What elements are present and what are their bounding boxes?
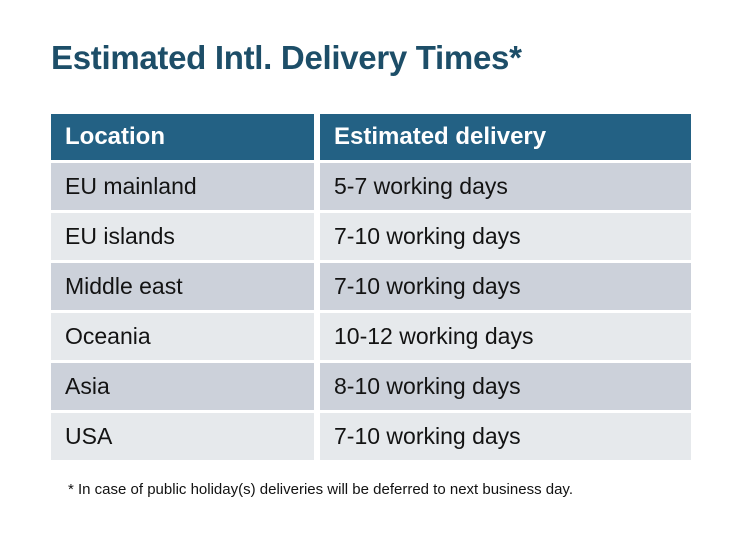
cell-location: Oceania xyxy=(51,313,314,360)
cell-estimated-delivery: 8-10 working days xyxy=(320,363,691,410)
cell-location: EU mainland xyxy=(51,163,314,210)
table-row: EU mainland 5-7 working days xyxy=(51,163,691,210)
table-row: Middle east 7-10 working days xyxy=(51,263,691,310)
table-header-row: Location Estimated delivery xyxy=(51,114,691,160)
delivery-times-page: Estimated Intl. Delivery Times* Location… xyxy=(0,0,745,536)
table-row: Oceania 10-12 working days xyxy=(51,313,691,360)
cell-estimated-delivery: 7-10 working days xyxy=(320,263,691,310)
cell-location: USA xyxy=(51,413,314,460)
column-header-location: Location xyxy=(51,114,314,160)
cell-location: Asia xyxy=(51,363,314,410)
cell-estimated-delivery: 5-7 working days xyxy=(320,163,691,210)
footnote-text: * In case of public holiday(s) deliverie… xyxy=(68,480,573,500)
cell-location: Middle east xyxy=(51,263,314,310)
cell-location: EU islands xyxy=(51,213,314,260)
table-row: EU islands 7-10 working days xyxy=(51,213,691,260)
column-header-estimated-delivery: Estimated delivery xyxy=(320,114,691,160)
cell-estimated-delivery: 7-10 working days xyxy=(320,213,691,260)
page-title: Estimated Intl. Delivery Times* xyxy=(51,38,522,78)
table-row: USA 7-10 working days xyxy=(51,413,691,460)
cell-estimated-delivery: 10-12 working days xyxy=(320,313,691,360)
table-row: Asia 8-10 working days xyxy=(51,363,691,410)
delivery-times-table: Location Estimated delivery EU mainland … xyxy=(51,114,691,463)
cell-estimated-delivery: 7-10 working days xyxy=(320,413,691,460)
